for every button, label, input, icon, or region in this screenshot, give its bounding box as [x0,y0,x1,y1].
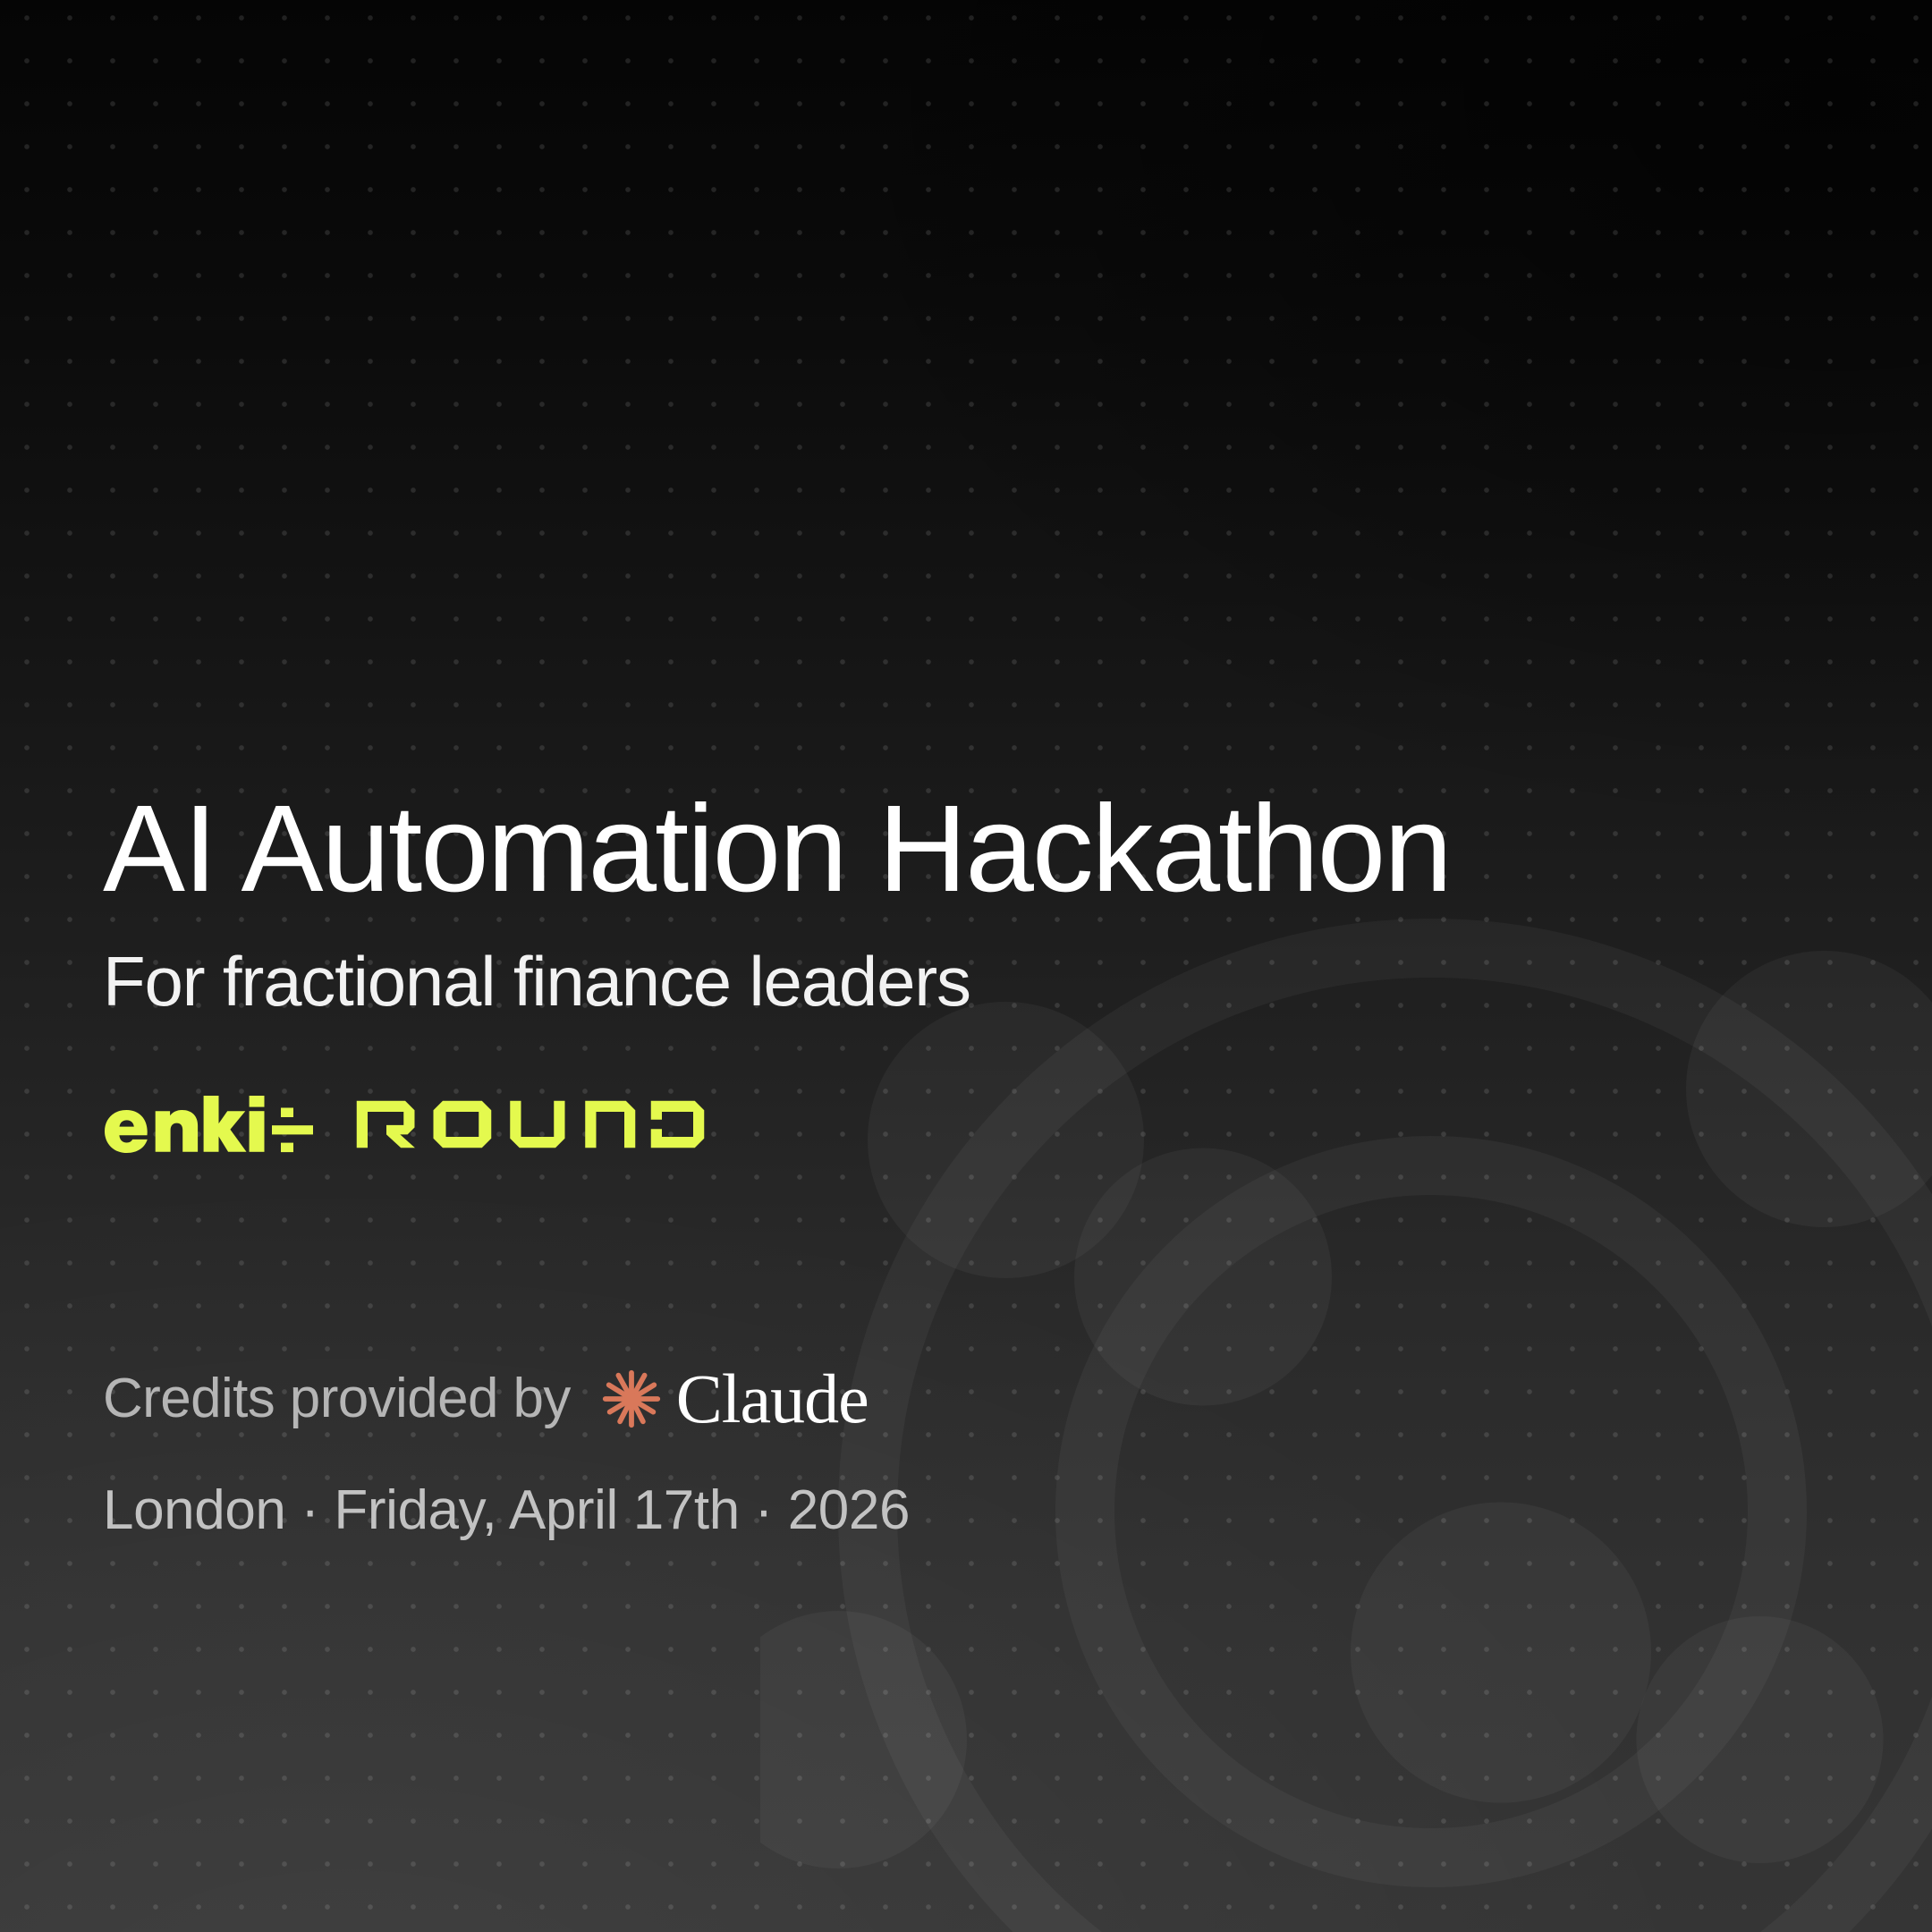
claude-wordmark: Claude [676,1364,869,1434]
poster-canvas: AI Automation Hackathon For fractional f… [0,0,1932,1932]
enki-logo [103,1096,314,1153]
page-subtitle: For fractional finance leaders [103,946,1802,1016]
round-logo [355,1099,723,1149]
brand-logo-row [103,1086,1802,1163]
event-meta-line: London · Friday, April 17th · 2026 [103,1483,1802,1538]
page-title: AI Automation Hackathon [103,787,1802,911]
claude-starburst-icon [601,1368,662,1429]
claude-lockup: Claude [601,1364,869,1434]
credits-row: Credits provided by [103,1358,1802,1440]
poster-content: AI Automation Hackathon For fractional f… [103,787,1802,1594]
credits-label: Credits provided by [103,1371,571,1427]
